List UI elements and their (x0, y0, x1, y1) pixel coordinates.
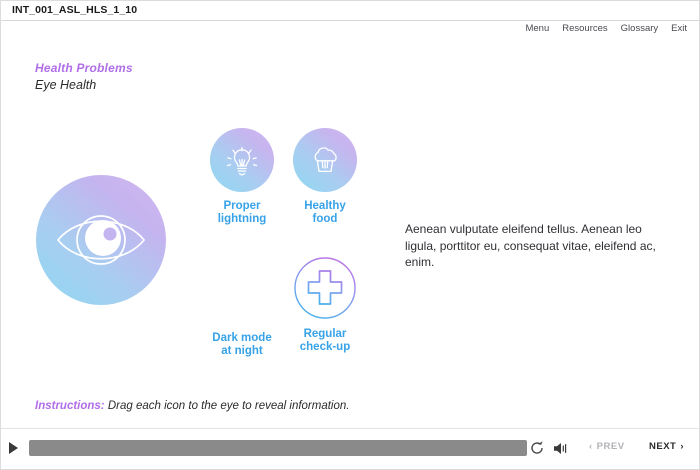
option-circle (210, 128, 274, 192)
next-button[interactable]: NEXT › (649, 441, 684, 452)
nav-item-glossary[interactable]: Glossary (621, 23, 658, 34)
instructions-text: Drag each icon to the eye to reveal info… (105, 400, 350, 412)
option-regular-checkup[interactable]: Regular check-up (290, 256, 360, 354)
seek-bar[interactable] (29, 440, 527, 456)
medical-cross-icon (293, 256, 357, 320)
option-circle (293, 128, 357, 192)
slide-id-label: INT_001_ASL_HLS_1_10 (12, 4, 137, 16)
option-label: Regular check-up (290, 328, 360, 354)
nav-item-menu[interactable]: Menu (525, 23, 549, 34)
prev-chevron-icon: ‹ (589, 441, 593, 452)
eye-drop-target[interactable] (36, 183, 166, 296)
option-proper-lighting[interactable]: Proper lightning (208, 128, 276, 226)
play-icon[interactable] (9, 442, 18, 454)
prev-label: PREV (597, 441, 625, 452)
option-label: Proper lightning (208, 200, 276, 226)
option-circle (293, 256, 357, 320)
option-label: Dark mode at night (204, 332, 280, 358)
prev-button[interactable]: ‹ PREV (589, 441, 625, 452)
next-label: NEXT (649, 441, 676, 452)
player-bar: ‹ PREV NEXT › (1, 428, 699, 469)
replay-icon[interactable] (529, 440, 545, 456)
nav-item-resources[interactable]: Resources (562, 23, 607, 34)
nav-item-exit[interactable]: Exit (671, 23, 687, 34)
title-bar: INT_001_ASL_HLS_1_10 (1, 1, 699, 21)
option-healthy-food[interactable]: Healthy food (291, 128, 359, 226)
instructions: Instructions: Drag each icon to the eye … (35, 400, 349, 412)
lightbulb-icon (222, 140, 262, 180)
option-label: Healthy food (291, 200, 359, 226)
info-paragraph: Aenean vulputate eleifend tellus. Aenean… (405, 221, 673, 271)
volume-icon[interactable] (553, 441, 569, 456)
next-chevron-icon: › (680, 441, 684, 452)
broccoli-icon (305, 140, 345, 180)
eye-icon (36, 175, 166, 305)
top-navigation: Menu Resources Glossary Exit (525, 23, 687, 34)
slide-page: INT_001_ASL_HLS_1_10 Menu Resources Glos… (0, 0, 700, 470)
option-dark-mode[interactable]: Dark mode at night (204, 332, 280, 358)
instructions-label: Instructions: (35, 400, 105, 412)
section-kicker: Health Problems (35, 61, 133, 75)
page-title: Eye Health (35, 78, 96, 92)
